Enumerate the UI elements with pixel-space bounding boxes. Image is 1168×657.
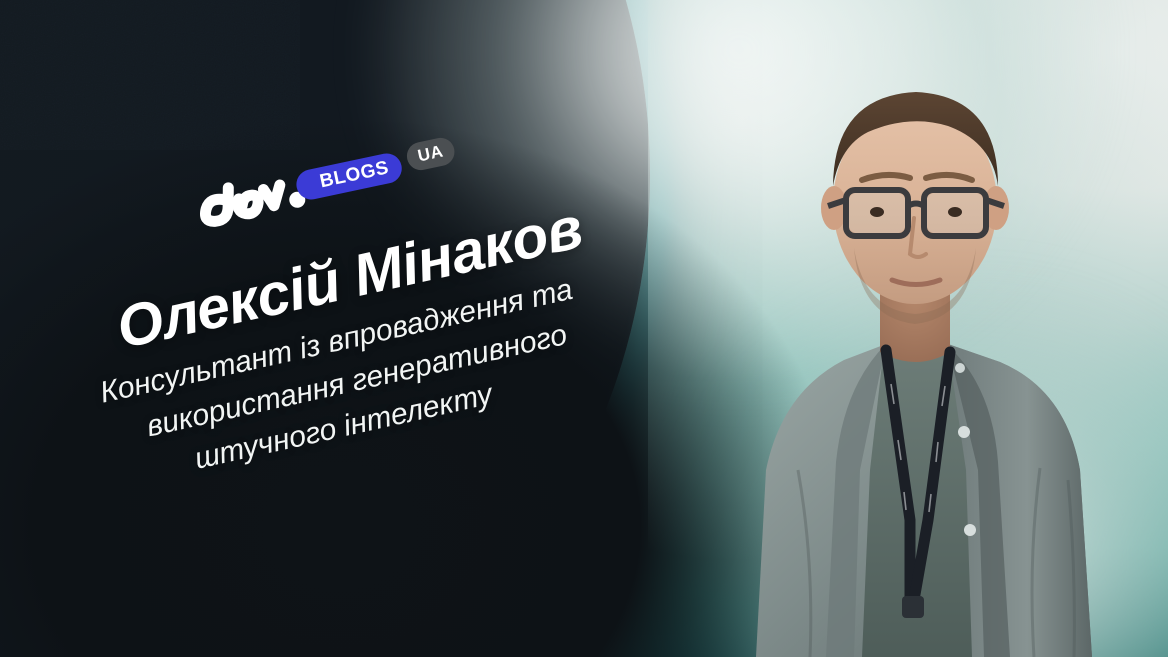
portrait-illustration xyxy=(648,0,1168,657)
speaker-portrait xyxy=(648,0,1168,657)
cover-banner: BLOGS UA Олексій Мінаков Консультант із … xyxy=(0,0,1168,657)
badge-ua[interactable]: UA xyxy=(404,135,456,172)
